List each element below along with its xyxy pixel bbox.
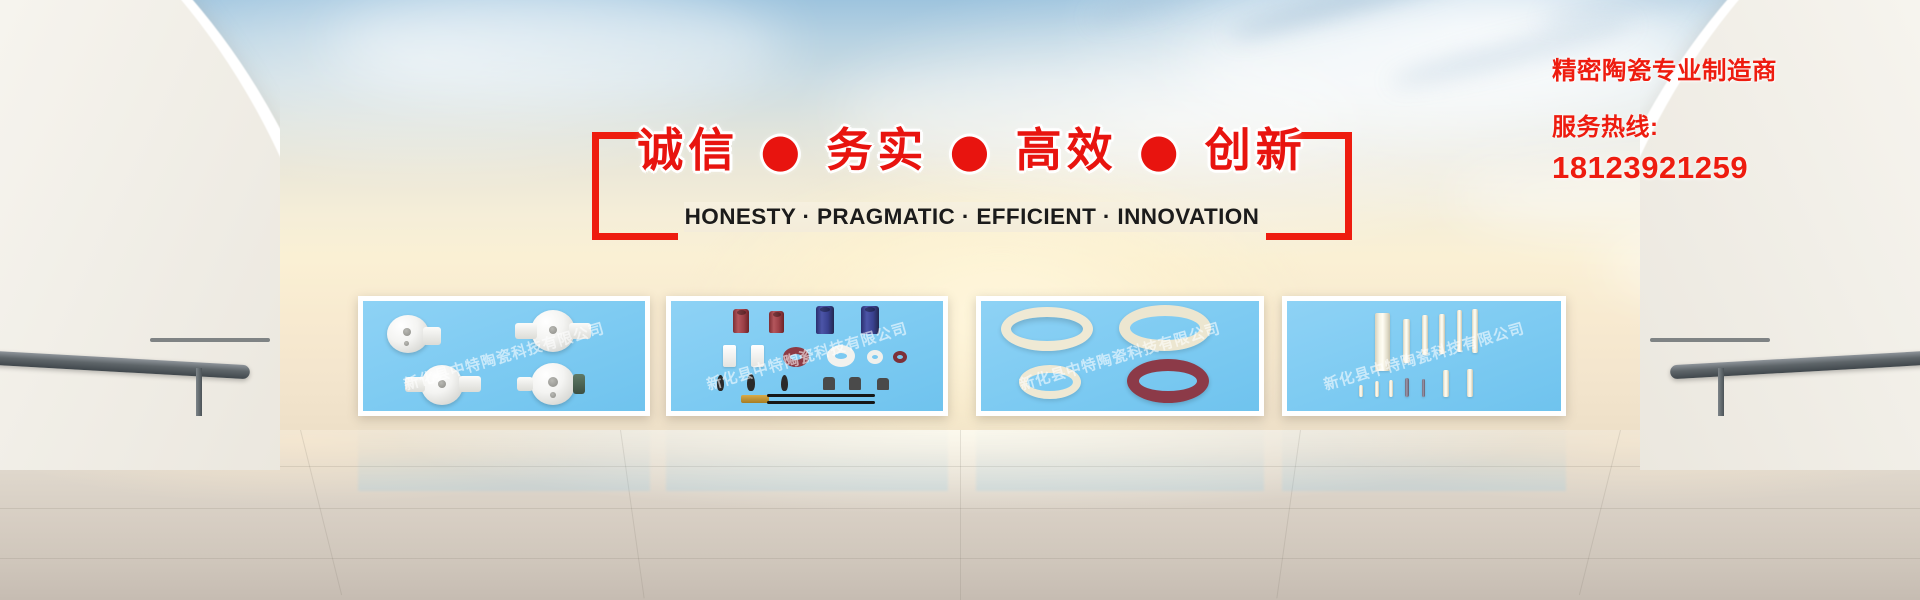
lamp-holder-wing <box>515 323 537 339</box>
ceramic-bead <box>781 375 788 391</box>
ceramic-ring-small <box>1019 365 1081 399</box>
ceramic-plate <box>723 345 736 367</box>
ceramic-rod <box>1457 310 1462 352</box>
railing-post-right <box>1718 368 1724 416</box>
ceramic-rod-dark <box>1405 378 1409 397</box>
slogan-block: 诚信 ● 务实 ● 高效 ● 创新 HONESTY · PRAGMATIC · … <box>592 132 1352 244</box>
lamp-holder-wing <box>517 377 533 391</box>
ceramic-ring-large <box>1001 307 1093 351</box>
ceramic-washer-maroon <box>893 351 907 363</box>
canopy-edge-left <box>0 0 280 470</box>
hotline-label: 服务热线: <box>1552 107 1882 142</box>
wire-lead <box>767 394 875 397</box>
ceramic-rod-small <box>1467 369 1473 397</box>
ceramic-rod-small <box>1443 370 1449 397</box>
railing-post-left <box>196 368 202 416</box>
panel-inner: 新化县中特陶瓷科技有限公司 <box>671 301 943 411</box>
lamp-holder-hole <box>404 341 409 346</box>
ceramic-washer-white <box>867 350 883 364</box>
railing-bar-right <box>1650 338 1770 342</box>
metal-clip <box>849 377 861 390</box>
lamp-holder-wing <box>405 377 425 392</box>
wire-lead <box>767 401 875 404</box>
hotline-phone-number[interactable]: 18123921259 <box>1552 150 1882 186</box>
panel-inner: 新化县中特陶瓷科技有限公司 <box>363 301 645 411</box>
lamp-holder-contact <box>573 374 585 394</box>
architecture-canopy-left <box>0 0 280 470</box>
tube-bore <box>865 307 875 312</box>
tube-bore <box>737 310 746 315</box>
product-panel-ceramic-rods[interactable]: 新化县中特陶瓷科技有限公司 <box>1282 296 1566 416</box>
ceramic-rod-small <box>1359 385 1363 397</box>
railing-bar-left <box>150 338 270 342</box>
contact-title: 精密陶瓷专业制造商 <box>1552 52 1882 87</box>
ceramic-ring-white <box>827 345 855 367</box>
metal-clip <box>877 378 889 390</box>
product-panel-tubes-and-wires[interactable]: 新化县中特陶瓷科技有限公司 <box>666 296 948 416</box>
ceramic-rod-small <box>1389 380 1393 397</box>
ceramic-plate <box>751 345 764 367</box>
lamp-holder-hole <box>550 392 556 398</box>
lamp-holder-hole <box>548 377 558 387</box>
ceramic-rod-dark <box>1422 379 1425 397</box>
contact-block: 精密陶瓷专业制造商 服务热线: 18123921259 <box>1552 52 1882 186</box>
metal-clip <box>823 377 835 390</box>
product-panel-lamp-holders[interactable]: 新化县中特陶瓷科技有限公司 <box>358 296 650 416</box>
panel-inner: 新化县中特陶瓷科技有限公司 <box>981 301 1259 411</box>
floor-tile-line <box>960 430 961 600</box>
ceramic-ring-maroon <box>783 347 809 367</box>
ceramic-bead <box>717 375 724 391</box>
tube-bore <box>773 312 781 317</box>
lamp-holder-hole <box>403 328 411 336</box>
ceramic-ring-large <box>1119 305 1211 351</box>
tube-bore <box>820 307 830 312</box>
ceramic-rod <box>1422 315 1428 355</box>
reflective-floor <box>0 430 1920 600</box>
ceramic-rod <box>1403 319 1410 363</box>
lamp-holder-body <box>423 327 441 345</box>
lamp-holder-hole <box>438 380 446 388</box>
ceramic-rod-large <box>1375 313 1390 371</box>
slogan-chinese: 诚信 ● 务实 ● 高效 ● 创新 <box>592 114 1352 180</box>
slogan-english: HONESTY · PRAGMATIC · EFFICIENT · INNOVA… <box>592 204 1352 230</box>
ceramic-bead <box>747 374 755 391</box>
panel-inner: 新化县中特陶瓷科技有限公司 <box>1287 301 1561 411</box>
product-panel-ceramic-rings[interactable]: 新化县中特陶瓷科技有限公司 <box>976 296 1264 416</box>
ceramic-rod <box>1472 309 1478 353</box>
ceramic-rod-small <box>1375 381 1379 397</box>
ceramic-rod <box>1439 314 1445 354</box>
ceramic-ring-maroon <box>1127 359 1209 403</box>
hero-banner: 诚信 ● 务实 ● 高效 ● 创新 HONESTY · PRAGMATIC · … <box>0 0 1920 600</box>
wire-gold-connector <box>741 395 769 403</box>
lamp-holder-hole <box>549 326 557 334</box>
lamp-holder-wing <box>459 376 481 392</box>
lamp-holder-wing <box>569 323 591 339</box>
